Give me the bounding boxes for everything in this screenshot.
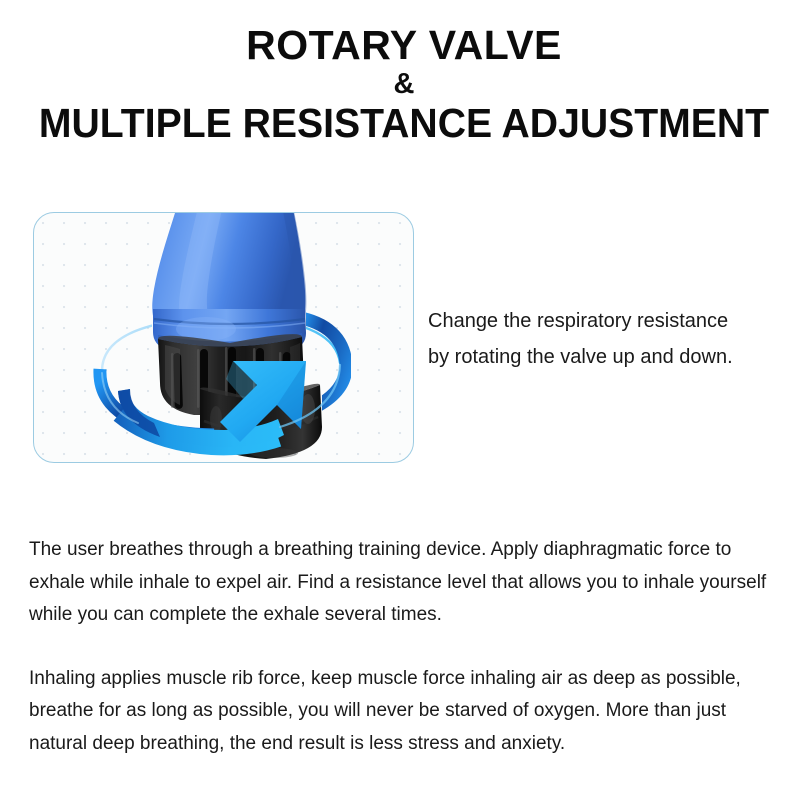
callout-line-1: Change the respiratory resistance [428,303,800,339]
product-image-card [33,212,414,463]
callout-line-2: by rotating the valve up and down. [428,339,800,375]
body-paragraph-1: The user breathes through a breathing tr… [29,534,781,632]
body-paragraph-2: Inhaling applies muscle rib force, keep … [29,663,781,761]
title-line-secondary: MULTIPLE RESISTANCE ADJUSTMENT [18,100,790,147]
title-line-secondary-wrap: MULTIPLE RESISTANCE ADJUSTMENT [0,100,808,147]
mouthpiece [152,213,306,350]
title-line-primary: ROTARY VALVE [0,22,808,68]
page-title: ROTARY VALVE & MULTIPLE RESISTANCE ADJUS… [0,22,808,147]
body-copy: The user breathes through a breathing tr… [29,534,781,760]
callout-text: Change the respiratory resistance by rot… [428,303,800,375]
breathing-trainer-illustration [34,213,413,462]
product-image-clip [34,213,413,462]
title-ampersand: & [0,68,808,100]
